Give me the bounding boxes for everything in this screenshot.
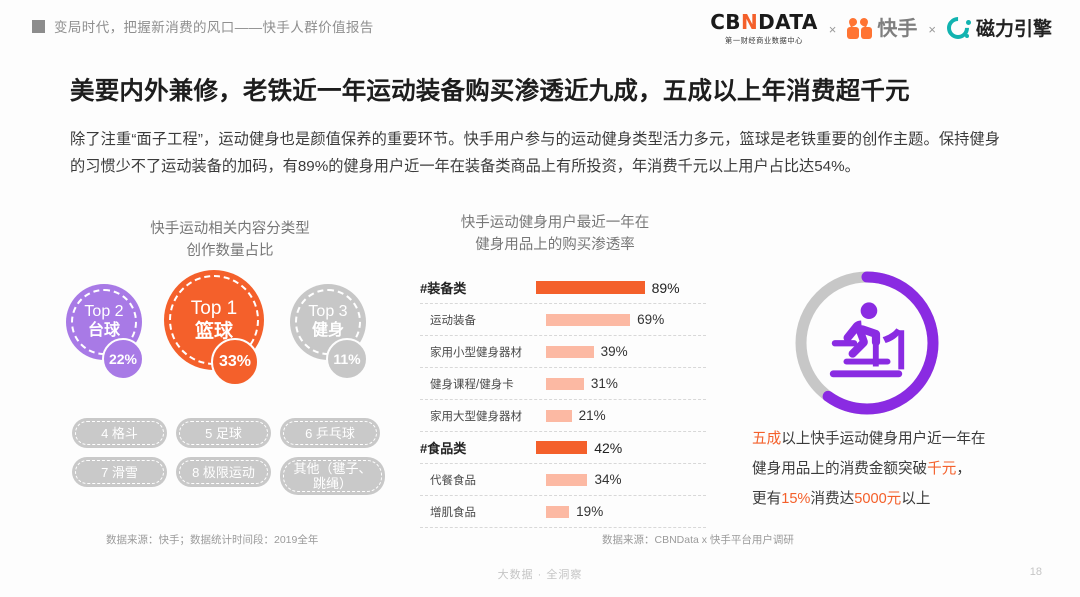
cbndata-wordmark: CBNDATA [710,12,818,32]
footer-tagline: 大数据 · 全洞察 [0,566,1080,582]
bar-track: 39% [546,336,706,367]
top-category-rank: Top 1 [191,298,237,320]
bar-chart-row: 家用大型健身器材21% [420,400,706,432]
highlight-5000yuan: 5000元 [854,491,901,507]
cbndata-logo: CBNDATA 第一财经商业数据中心 [710,12,818,46]
bar-value-label: 42% [594,440,622,456]
kuaishou-mark-icon [847,18,873,40]
bar-chart-row: 代餐食品34% [420,464,706,496]
right-panel-text: 五成以上快手运动健身用户近一年在 健身用品上的消费金额突破千元， 更有15%消费… [752,424,1072,514]
kuaishou-wordmark: 快手 [877,19,917,39]
logo-separator-2: × [928,22,936,37]
bar-chart-row: 运动装备69% [420,304,706,336]
cbndata-part-data: DATA [758,10,818,34]
left-panel-title-line1: 快手运动相关内容分类型 [80,218,380,240]
bar-row-label: 家用大型健身器材 [420,408,546,424]
category-pill-label: 6 乒乓球 [305,426,355,441]
category-pill: 6 乒乓球 [280,418,380,448]
page-title: 美要内外兼修，老铁近一年运动装备购买渗透近九成，五成以上年消费超千元 [70,72,1020,107]
bar-chart-row: 健身课程/健身卡31% [420,368,706,400]
right-text-line3-e: 以上 [901,491,930,507]
category-pill: 5 足球 [176,418,271,448]
category-pill: 4 格斗 [72,418,167,448]
bar-chart-row: #食品类42% [420,432,706,464]
breadcrumb-label: 变局时代，把握新消费的风口——快手人群价值报告 [54,16,374,36]
category-pill-label: 其他（毽子、跳绳） [293,461,372,491]
bar-track: 42% [536,432,706,463]
category-pill: 其他（毽子、跳绳） [280,457,385,495]
right-text-line3: 更有15%消费达5000元以上 [752,484,1072,514]
kuaishou-logo: 快手 [847,18,917,40]
highlight-wucheng: 五成 [752,431,781,447]
cbndata-part-cb: CB [710,10,741,34]
left-panel-title: 快手运动相关内容分类型 创作数量占比 [80,218,380,262]
penetration-bar-chart: #装备类89%运动装备69%家用小型健身器材39%健身课程/健身卡31%家用大型… [420,272,706,528]
bar-value-label: 89% [652,280,680,296]
bar-chart-row: #装备类89% [420,272,706,304]
breadcrumb: 变局时代，把握新消费的风口——快手人群价值报告 [32,16,374,36]
mid-panel-source: 数据来源：CBNData x 快手平台用户调研 [602,532,794,547]
bar-value-label: 31% [591,376,618,391]
left-panel-title-line2: 创作数量占比 [80,240,380,262]
bar-track: 69% [546,304,706,335]
cili-wordmark: 磁力引擎 [976,20,1052,39]
bar-chart-row: 增肌食品19% [420,496,706,528]
bar-value-label: 34% [594,472,621,487]
top-categories-chart: Top 2 台球 22% Top 1 篮球 33% Top 3 健身 11% [66,270,396,400]
bar-fill [546,506,569,518]
bar-row-label: 家用小型健身器材 [420,344,546,360]
top-category-name: 篮球 [195,320,233,343]
bar-fill [546,314,630,326]
bar-fill [546,410,572,422]
bar-track: 19% [546,496,706,527]
right-text-line1-rest: 以上快手运动健身用户近一年在 [781,431,985,447]
bar-value-label: 19% [576,504,603,519]
slide: 变局时代，把握新消费的风口——快手人群价值报告 CBNDATA 第一财经商业数据… [0,0,1080,597]
spend-ring-illustration [792,268,942,418]
right-text-line2: 健身用品上的消费金额突破千元， [752,454,1072,484]
bar-row-label: 运动装备 [420,312,546,328]
mid-panel-title-line1: 快手运动健身用户最近一年在 [405,212,705,234]
bar-value-label: 69% [637,312,664,327]
top-category-name: 台球 [88,321,120,341]
other-categories-list: 4 格斗 5 足球 6 乒乓球 7 滑雪 8 极限运动 其他（毽子、跳绳） [72,418,392,495]
right-text-line2-a: 健身用品上的消费金额突破 [752,461,927,477]
bar-row-label: 增肌食品 [420,504,546,520]
right-text-line3-c: 消费达 [810,491,854,507]
bar-fill [546,474,587,486]
bar-row-label: 代餐食品 [420,472,546,488]
bar-track: 31% [546,368,706,399]
cili-mark-icon [947,17,971,41]
top-category-value: 33% [211,338,259,386]
right-text-line3-a: 更有 [752,491,781,507]
category-pill-label: 5 足球 [205,426,242,441]
bar-fill [546,378,584,390]
logo-group: CBNDATA 第一财经商业数据中心 × 快手 × 磁力引擎 [710,12,1052,46]
bar-fill [536,281,645,294]
cbndata-part-n: N [741,10,758,34]
category-pill-label: 8 极限运动 [192,465,255,480]
bar-fill [536,441,587,454]
top-category-value: 11% [326,338,368,380]
bar-track: 21% [546,400,706,431]
top-category-name: 健身 [312,321,344,341]
bar-row-label: #食品类 [420,438,536,457]
top-category-value: 22% [102,338,144,380]
mid-panel-title-line2: 健身用品上的购买渗透率 [405,234,705,256]
category-pill: 8 极限运动 [176,457,271,487]
bar-fill [546,346,594,358]
bar-value-label: 21% [579,408,606,423]
category-pill: 7 滑雪 [72,457,167,487]
right-text-line1: 五成以上快手运动健身用户近一年在 [752,424,1072,454]
lead-paragraph: 除了注重“面子工程”，运动健身也是颜值保养的重要环节。快手用户参与的运动健身类型… [70,126,1000,180]
bar-row-label: #装备类 [420,278,536,297]
bar-track: 34% [546,464,706,495]
highlight-15pct: 15% [781,491,810,507]
highlight-qianyuan: 千元 [927,461,956,477]
logo-separator-1: × [829,22,837,37]
mid-panel-title: 快手运动健身用户最近一年在 健身用品上的购买渗透率 [405,212,705,256]
slide-header: 变局时代，把握新消费的风口——快手人群价值报告 CBNDATA 第一财经商业数据… [0,0,1080,58]
bar-track: 89% [536,272,706,303]
square-bullet-icon [32,20,45,33]
top-category-rank: Top 3 [308,303,347,321]
bar-value-label: 39% [601,344,628,359]
cbndata-subtitle: 第一财经商业数据中心 [725,35,803,45]
category-pill-label: 4 格斗 [101,426,138,441]
category-pill-label: 7 滑雪 [101,465,138,480]
bar-chart-row: 家用小型健身器材39% [420,336,706,368]
page-number: 18 [1030,566,1042,578]
left-panel-source: 数据来源：快手；数据统计时间段：2019全年 [106,532,318,547]
cili-logo: 磁力引擎 [947,17,1052,41]
treadmill-runner-icon [818,298,916,388]
bar-row-label: 健身课程/健身卡 [420,376,546,392]
top-category-rank: Top 2 [84,303,123,321]
right-text-line2-c: ， [956,461,971,477]
